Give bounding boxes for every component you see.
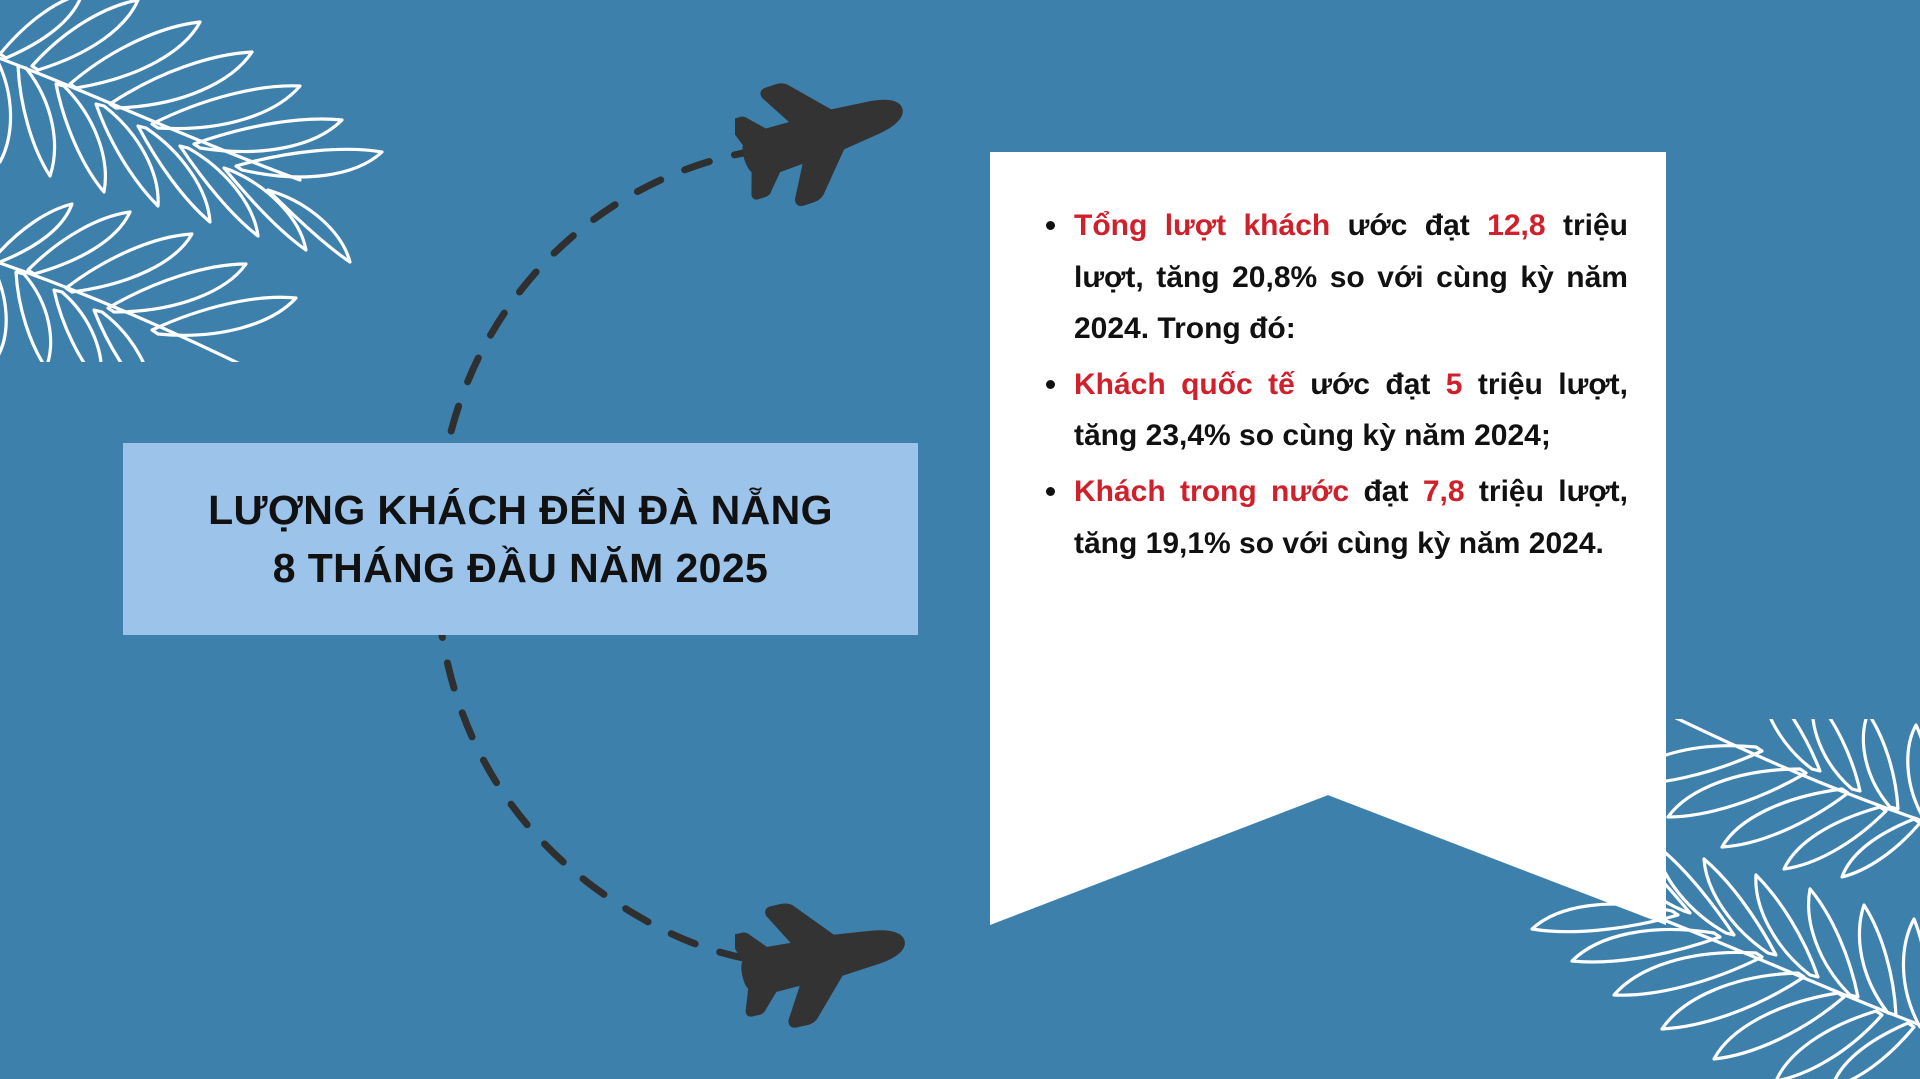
- fact-value: 7,8: [1423, 475, 1465, 508]
- fact-keyword: Khách trong nước: [1074, 475, 1349, 508]
- page-title-line1: LƯỢNG KHÁCH ĐẾN ĐÀ NẴNG: [208, 486, 833, 534]
- page-title-line2: 8 THÁNG ĐẦU NĂM 2025: [273, 544, 769, 592]
- fact-value: 5: [1446, 368, 1463, 401]
- title-banner: LƯỢNG KHÁCH ĐẾN ĐÀ NẴNG 8 THÁNG ĐẦU NĂM …: [123, 443, 918, 635]
- fact-value: 12,8: [1487, 209, 1545, 242]
- fact-keyword: Khách quốc tế: [1074, 368, 1295, 401]
- fact-keyword: Tổng lượt khách: [1074, 209, 1330, 242]
- fact-text: đạt: [1349, 475, 1423, 508]
- infographic-canvas: LƯỢNG KHÁCH ĐẾN ĐÀ NẴNG 8 THÁNG ĐẦU NĂM …: [0, 0, 1920, 1079]
- fact-text: ước đạt: [1295, 368, 1446, 401]
- fact-item: Tổng lượt khách ước đạt 12,8 triệu lượt,…: [1040, 200, 1628, 355]
- fact-text: ước đạt: [1330, 209, 1487, 242]
- leaf-frond-icon: [0, 0, 400, 362]
- fact-item: Khách quốc tế ước đạt 5 triệu lượt, tăng…: [1040, 359, 1628, 462]
- facts-list: Tổng lượt khách ước đạt 12,8 triệu lượt,…: [990, 152, 1666, 569]
- airplane-icon: [735, 885, 925, 1035]
- facts-ribbon-panel: Tổng lượt khách ước đạt 12,8 triệu lượt,…: [990, 152, 1666, 925]
- airplane-icon: [735, 60, 925, 210]
- fact-item: Khách trong nước đạt 7,8 triệu lượt, tăn…: [1040, 466, 1628, 569]
